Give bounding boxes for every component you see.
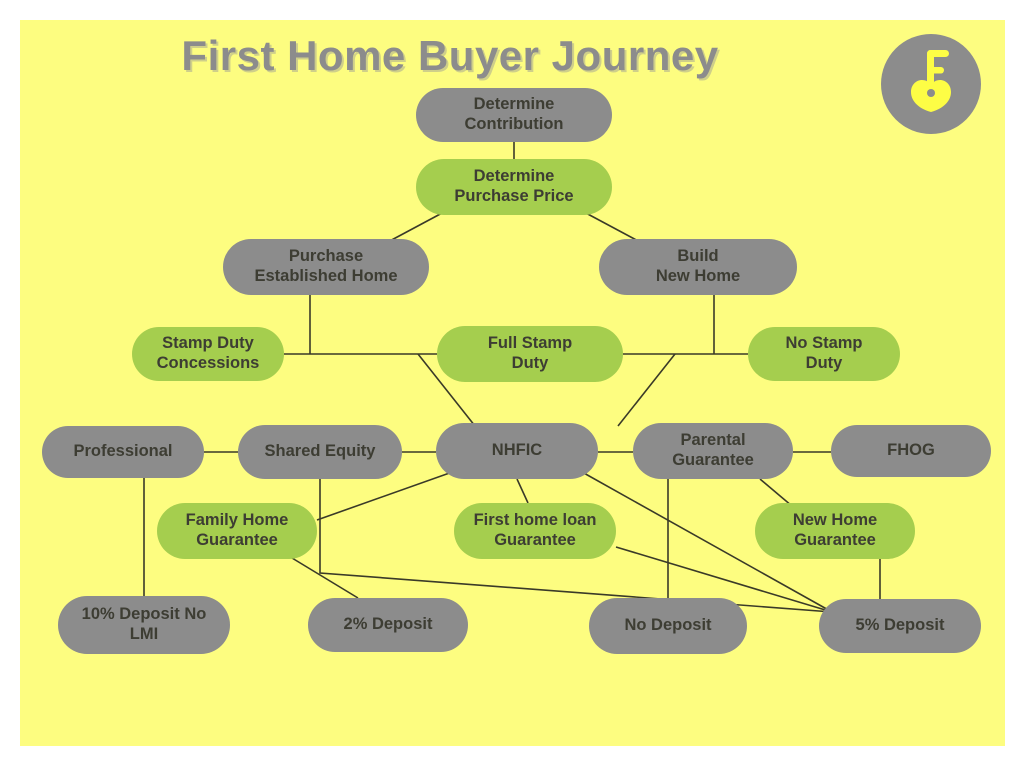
nodes-layer: DetermineContributionDeterminePurchase P… (42, 88, 991, 654)
node-label: No Deposit (624, 616, 712, 634)
node-label: 5% Deposit (856, 616, 945, 634)
node-family-home-guarantee[interactable]: Family HomeGuarantee (157, 503, 317, 559)
node-full-stamp-duty[interactable]: Full StampDuty (437, 326, 623, 382)
node-build-new-home[interactable]: BuildNew Home (599, 239, 797, 295)
edge-determine-purchase-price-to-purchase-established-home (386, 212, 444, 243)
node-no-deposit[interactable]: No Deposit (589, 598, 747, 654)
node-purchase-established-home[interactable]: PurchaseEstablished Home (223, 239, 429, 295)
node-five-percent-deposit[interactable]: 5% Deposit (819, 599, 981, 653)
node-label: NHFIC (492, 441, 542, 459)
diagram-canvas: First Home Buyer Journey DetermineContri… (20, 20, 1005, 746)
journey-flowchart: DetermineContributionDeterminePurchase P… (20, 20, 1005, 746)
edge-nhfic-to-first-home-loan-guarantee (517, 479, 528, 503)
node-stamp-duty-concessions[interactable]: Stamp DutyConcessions (132, 327, 284, 381)
node-determine-contribution[interactable]: DetermineContribution (416, 88, 612, 142)
edge-stamp-duty-row-right-to-nhfic (618, 354, 675, 426)
node-label: 2% Deposit (344, 615, 433, 633)
node-label: Professional (73, 442, 172, 460)
node-parental-guarantee[interactable]: ParentalGuarantee (633, 423, 793, 479)
node-nhfic[interactable]: NHFIC (436, 423, 598, 479)
node-professional[interactable]: Professional (42, 426, 204, 478)
node-shared-equity[interactable]: Shared Equity (238, 425, 402, 479)
node-new-home-guarantee[interactable]: New HomeGuarantee (755, 503, 915, 559)
node-ten-percent-deposit-no-lmi[interactable]: 10% Deposit NoLMI (58, 596, 230, 654)
node-determine-purchase-price[interactable]: DeterminePurchase Price (416, 159, 612, 215)
node-fhog[interactable]: FHOG (831, 425, 991, 477)
node-no-stamp-duty[interactable]: No StampDuty (748, 327, 900, 381)
node-first-home-loan-guarantee[interactable]: First home loanGuarantee (454, 503, 616, 559)
edge-determine-purchase-price-to-build-new-home (584, 212, 642, 243)
node-two-percent-deposit[interactable]: 2% Deposit (308, 598, 468, 652)
node-label: FHOG (887, 441, 935, 459)
edge-family-home-guarantee-to-two-percent-deposit (292, 558, 358, 598)
node-label: Shared Equity (265, 442, 377, 460)
